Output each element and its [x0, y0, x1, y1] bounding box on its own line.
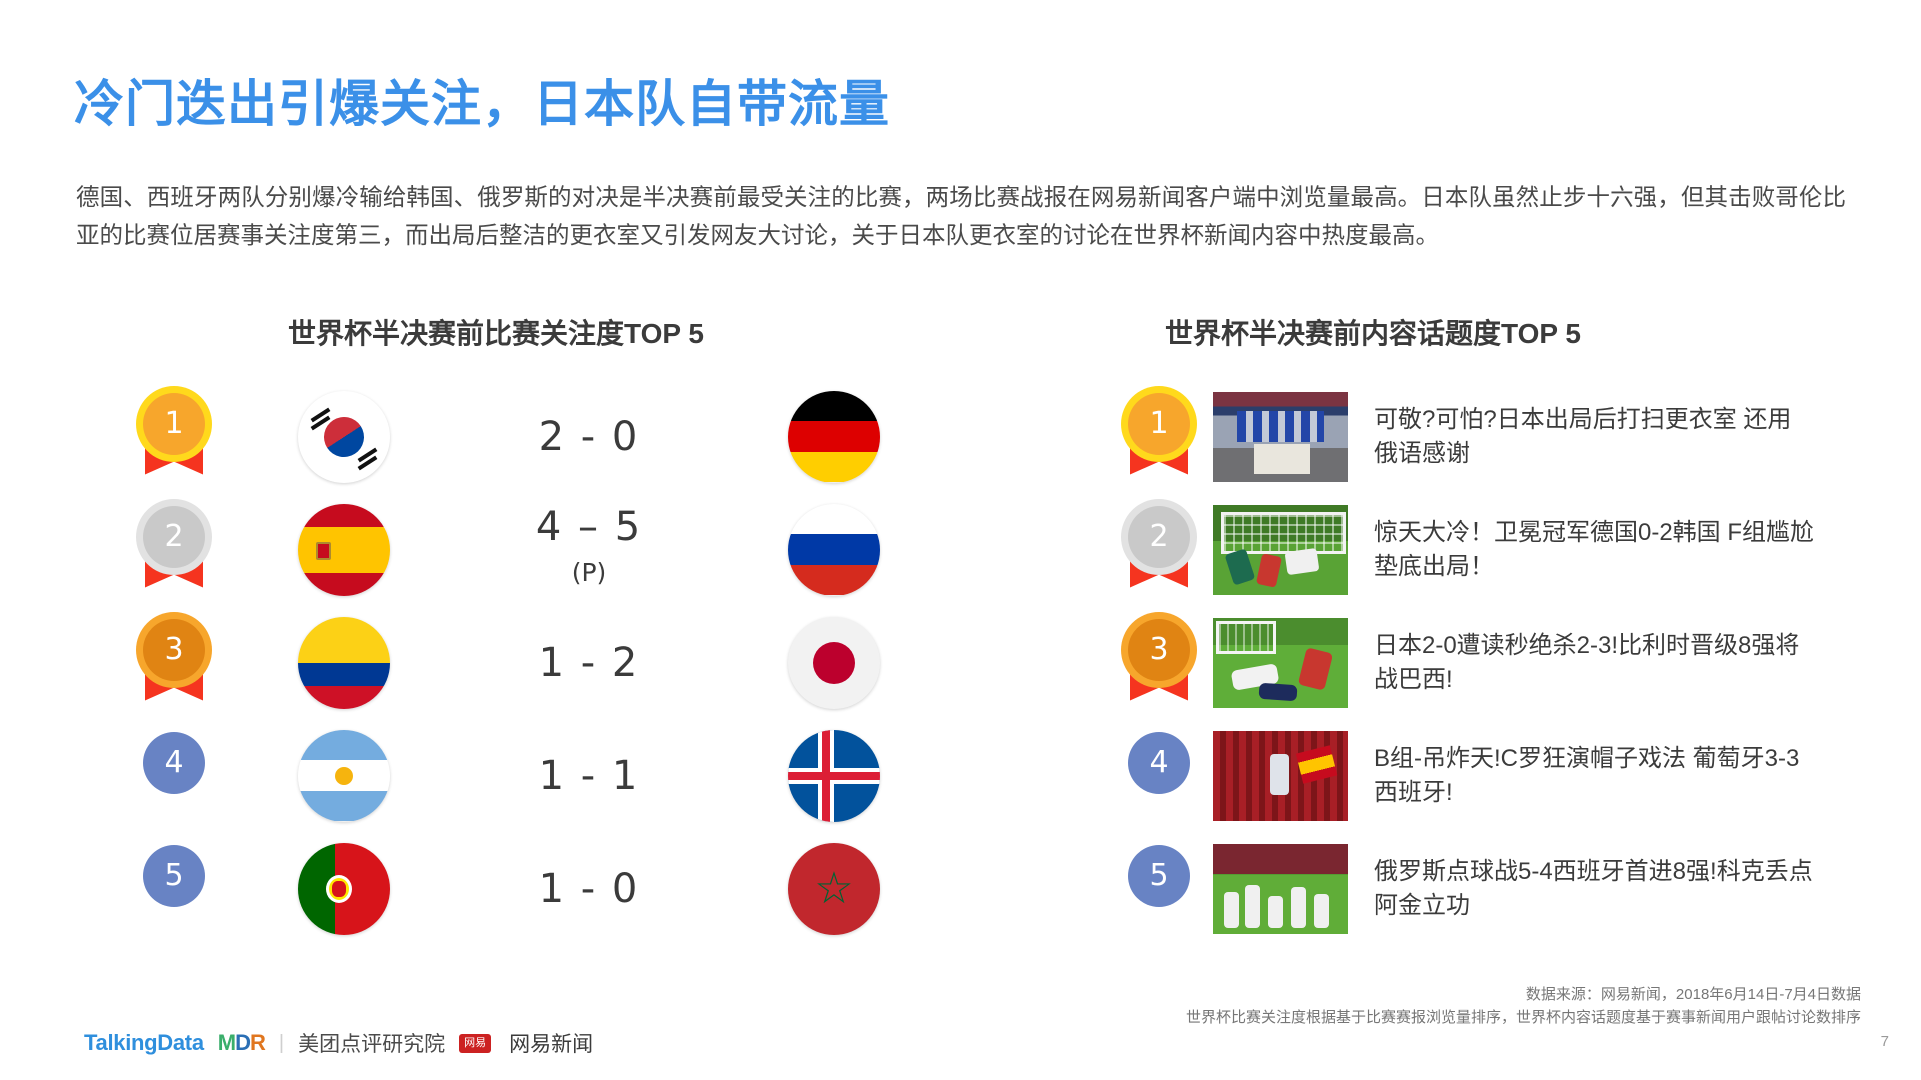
topic-thumbnail: [1213, 618, 1348, 708]
source-note: 数据来源：网易新闻，2018年6月14日-7月4日数据 世界杯比赛关注度根据基于…: [1186, 983, 1861, 1029]
match-row: 4 1 - 1: [120, 719, 910, 832]
penalty-note: (P): [390, 551, 788, 595]
topic-row[interactable]: 5 俄罗斯点球战5-4西班牙首进8强!科克丢点阿金立功: [1105, 832, 1815, 945]
match-row: 2 4 – 5 (P): [120, 493, 910, 606]
topic-headline[interactable]: 俄罗斯点球战5-4西班牙首进8强!科克丢点阿金立功: [1374, 855, 1815, 923]
rank-number: 2: [1128, 506, 1190, 568]
talkingdata-logo: TalkingData: [84, 1030, 204, 1056]
flag-russia: [788, 504, 880, 596]
match-score: 4 – 5 (P): [390, 505, 788, 595]
rank-badge-4: 4: [120, 726, 228, 826]
topic-row[interactable]: 2 惊天大冷！卫冕冠军德国0-2韩国 F组尴尬垫底出局！: [1105, 493, 1815, 606]
rank-number: 3: [1128, 619, 1190, 681]
match-score: 1 - 1: [390, 754, 788, 798]
rank-number: 5: [1128, 845, 1190, 907]
netease-badge-icon: 网易: [459, 1034, 491, 1053]
topic-row[interactable]: 4 B组-吊炸天!C罗狂演帽子戏法 葡萄牙3-3西班牙!: [1105, 719, 1815, 832]
rank-number: 3: [143, 619, 205, 681]
mdr-logo: MDR: [218, 1030, 265, 1056]
rank-medal-1: 1: [120, 387, 228, 487]
match-score: 2 - 0: [390, 415, 788, 459]
source-line-1: 数据来源：网易新闻，2018年6月14日-7月4日数据: [1186, 983, 1861, 1006]
flag-portugal: [298, 843, 390, 935]
flag-germany: [788, 391, 880, 483]
rank-medal-3: 3: [120, 613, 228, 713]
match-score: 1 - 0: [390, 867, 788, 911]
flag-spain: [298, 504, 390, 596]
flag-japan: [788, 617, 880, 709]
flag-south-korea: [298, 391, 390, 483]
rank-number: 2: [143, 506, 205, 568]
sun-of-may-icon: [335, 767, 353, 785]
flag-morocco: ☆: [788, 843, 880, 935]
topic-thumbnail: [1213, 731, 1348, 821]
topic-headline[interactable]: B组-吊炸天!C罗狂演帽子戏法 葡萄牙3-3西班牙!: [1374, 742, 1815, 810]
rank-badge-5: 5: [1105, 839, 1213, 939]
rank-medal-3: 3: [1105, 613, 1213, 713]
rank-badge-4: 4: [1105, 726, 1213, 826]
pentagram-icon: ☆: [814, 867, 853, 911]
match-row: 5 1 - 0 ☆: [120, 832, 910, 945]
rank-badge-5: 5: [120, 839, 228, 939]
match-ranking-list: 1 2 - 0 2 4 – 5 (P): [120, 380, 910, 945]
topic-thumbnail: [1213, 844, 1348, 934]
topic-headline[interactable]: 惊天大冷！卫冕冠军德国0-2韩国 F组尴尬垫底出局！: [1374, 516, 1815, 584]
topic-ranking-list: 1 可敬?可怕?日本出局后打扫更衣室 还用俄语感谢 2 惊天大冷！卫冕冠军德国0…: [1105, 380, 1815, 945]
left-section-heading: 世界杯半决赛前比赛关注度TOP 5: [288, 312, 704, 352]
right-section-heading: 世界杯半决赛前内容话题度TOP 5: [1165, 312, 1581, 352]
rank-number: 4: [1128, 732, 1190, 794]
rank-number: 4: [143, 732, 205, 794]
rank-number: 1: [143, 393, 205, 455]
flag-iceland: [788, 730, 880, 822]
topic-headline[interactable]: 可敬?可怕?日本出局后打扫更衣室 还用俄语感谢: [1374, 403, 1815, 471]
logo-divider: |: [279, 1032, 284, 1055]
footer-logos: TalkingData MDR | 美团点评研究院 网易 网易新闻: [84, 1028, 593, 1058]
rank-number: 5: [143, 845, 205, 907]
netease-news-logo: 网易新闻: [509, 1028, 593, 1058]
rank-number: 1: [1128, 393, 1190, 455]
crest-icon: [316, 542, 331, 560]
flag-argentina: [298, 730, 390, 822]
rank-medal-2: 2: [120, 500, 228, 600]
intro-paragraph: 德国、西班牙两队分别爆冷输给韩国、俄罗斯的对决是半决赛前最受关注的比赛，两场比赛…: [76, 178, 1846, 254]
rank-medal-1: 1: [1105, 387, 1213, 487]
topic-thumbnail: [1213, 392, 1348, 482]
source-line-2: 世界杯比赛关注度根据基于比赛赛报浏览量排序，世界杯内容话题度基于赛事新闻用户跟帖…: [1186, 1006, 1861, 1029]
flag-colombia: [298, 617, 390, 709]
match-row: 3 1 - 2: [120, 606, 910, 719]
page-number: 7: [1881, 1033, 1889, 1050]
page-title: 冷门迭出引爆关注，日本队自带流量: [74, 64, 890, 136]
match-score: 1 - 2: [390, 641, 788, 685]
sun-disc-icon: [813, 642, 855, 684]
topic-headline[interactable]: 日本2-0遭读秒绝杀2-3!比利时晋级8强将战巴西!: [1374, 629, 1815, 697]
topic-row[interactable]: 3 日本2-0遭读秒绝杀2-3!比利时晋级8强将战巴西!: [1105, 606, 1815, 719]
topic-thumbnail: [1213, 505, 1348, 595]
topic-row[interactable]: 1 可敬?可怕?日本出局后打扫更衣室 还用俄语感谢: [1105, 380, 1815, 493]
match-row: 1 2 - 0: [120, 380, 910, 493]
meituan-research-logo: 美团点评研究院: [298, 1028, 445, 1058]
rank-medal-2: 2: [1105, 500, 1213, 600]
